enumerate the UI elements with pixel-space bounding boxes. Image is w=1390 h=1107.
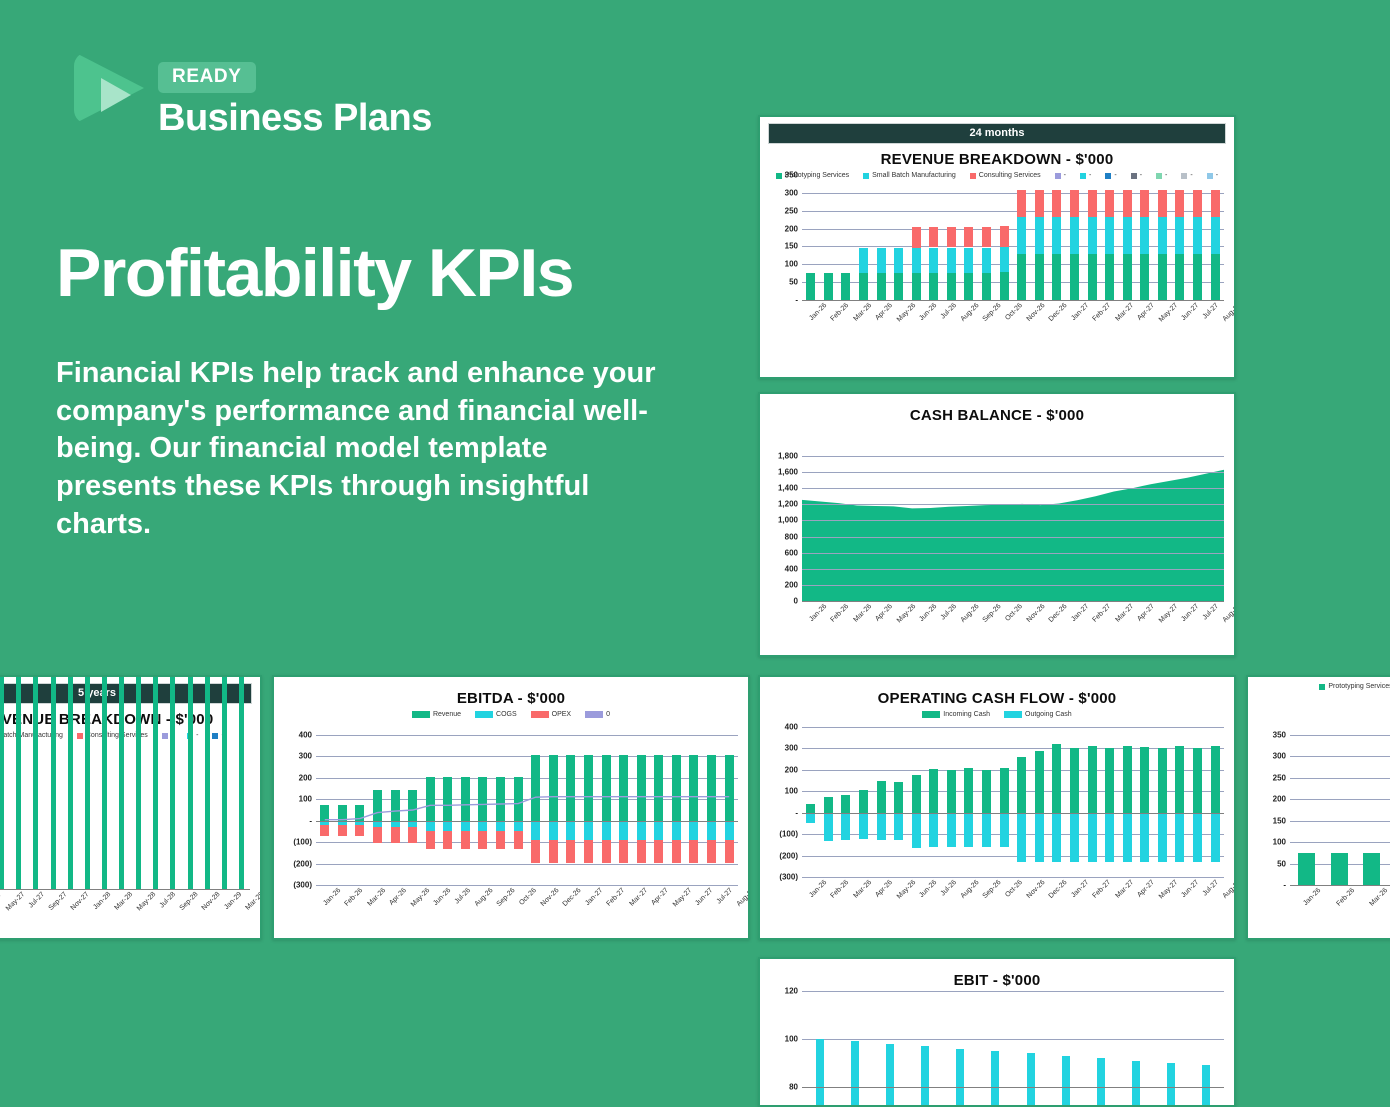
bar[interactable] [1035,175,1044,300]
x-label: May-26 [896,603,917,624]
x-label: Apr-27 [650,887,670,907]
bar[interactable] [824,727,833,877]
bar-segment [982,227,991,248]
x-label: Aug-27 [1221,879,1236,900]
bar[interactable] [1027,991,1035,1087]
bar-segment [1017,217,1026,255]
bar-segment [947,813,956,847]
x-label: Mar-26 [852,302,873,323]
x-label: Dec-26 [1048,302,1069,323]
bar[interactable] [921,991,929,1087]
y-tick: 80 [789,1083,798,1092]
chart-card-body: EBITDA - $'000RevenueCOGSOPEX04003002001… [274,677,748,938]
bar-segment [921,1046,929,1107]
bar-segment [102,675,107,889]
bar[interactable] [1035,727,1044,877]
bar[interactable] [1000,727,1009,877]
legend-label: - [196,732,198,739]
bar-segment [1105,190,1114,216]
bar-segment [894,813,903,840]
bar-segment [912,273,921,300]
bar-segment [824,797,833,813]
x-label: Sep-27 [47,891,68,912]
bar-segment [947,770,956,812]
bar-segment [1193,254,1202,300]
x-label: Jun-26 [918,603,938,623]
bar-segment [982,813,991,847]
bar[interactable] [1052,727,1061,877]
chart-plot: 12010080 [768,991,1226,1087]
y-axis: 12010080 [768,991,802,1087]
x-label: Mar-26 [852,879,873,900]
chart-title: CASH BALANCE - $'000 [768,407,1226,424]
legend-swatch [475,711,493,718]
x-label: Feb-26 [830,302,851,323]
y-tick: - [795,808,798,817]
bar-segment [1088,190,1097,216]
x-label: May-26 [896,879,917,900]
y-tick: 50 [1277,859,1286,868]
bar[interactable] [239,739,244,889]
period-label: 24 months [768,123,1226,144]
bar[interactable] [841,175,850,300]
bar[interactable] [1017,727,1026,877]
x-label: Feb-27 [1092,879,1113,900]
bar-segment [1158,190,1167,216]
x-axis-line [802,813,1224,814]
x-label: Mar-28 [114,891,135,912]
bar-segment [1158,254,1167,300]
bar[interactable] [894,727,903,877]
legend-item[interactable]: COGS [475,711,517,718]
bar-segment [1000,813,1009,847]
x-label: Mar-27 [1114,302,1135,323]
x-label: Apr-26 [874,603,894,623]
x-label: Mar-26 [1368,887,1389,908]
bar[interactable] [1105,175,1114,300]
bar[interactable] [816,991,824,1087]
bar[interactable] [1123,727,1132,877]
x-label: Jun-27 [1180,603,1200,623]
x-label: Jun-27 [694,887,714,907]
bar-segment [859,813,868,839]
x-label: May-27 [672,887,693,908]
bar-segment [964,813,973,847]
x-label: Mar-27 [1114,879,1135,900]
bar[interactable] [956,991,964,1087]
bar-segment [1017,254,1026,300]
x-label: Feb-26 [830,603,851,624]
bar-segment [1211,746,1220,812]
x-label: Jan-29 [223,891,243,911]
x-axis-labels: Mar-27May-27Jul-27Sep-27Nov-27Jan-28Mar-… [0,891,252,898]
x-label: Aug-26 [959,302,980,323]
x-label: Aug-27 [735,887,750,908]
bar-segment [1105,217,1114,255]
y-tick: 600 [785,548,798,557]
play-triangle-icon [74,52,144,124]
bar-segment [877,813,886,840]
gridline [802,537,1224,538]
y-tick: 800 [785,532,798,541]
bar-segment [929,227,938,248]
x-label-slot: Jan-26 [316,887,337,894]
legend-item[interactable]: Prototyping Services [1319,683,1390,690]
bar[interactable] [1132,991,1140,1087]
legend-label: COGS [496,711,517,718]
bar-segment [1052,190,1061,216]
bar[interactable] [205,739,210,889]
gridline [316,885,738,886]
bar[interactable] [929,175,938,300]
x-label: Aug-27 [1221,603,1236,624]
bar-group [802,727,1224,877]
bar-segment [1017,190,1026,216]
bar-segment [1017,813,1026,862]
bar[interactable] [991,991,999,1087]
bar-segment [1193,217,1202,255]
brand-name: Business Plans [158,99,432,139]
bar[interactable] [886,991,894,1087]
legend-item[interactable]: Incoming Cash [922,711,990,718]
x-label: Nov-27 [70,891,91,912]
bar-segment [912,227,921,248]
bar-segment [877,781,886,813]
x-label-slot: Feb-26 [1323,887,1356,894]
bar-segment [824,273,833,300]
bar[interactable] [102,739,107,889]
x-label: May-26 [896,302,917,323]
x-label: Feb-27 [1092,302,1113,323]
y-tick: - [309,816,312,825]
x-axis-line [802,601,1224,602]
plot-area [0,739,250,889]
bar-segment [806,804,815,813]
x-label: Aug-26 [473,887,494,908]
bar-segment [1052,217,1061,255]
bar-segment [886,1044,894,1107]
bar[interactable] [1070,727,1079,877]
area-series [802,456,1224,601]
bar[interactable] [1017,175,1026,300]
bar-segment [1052,744,1061,813]
bar[interactable] [929,727,938,877]
y-tick: (200) [779,851,798,860]
bar-segment [1331,853,1348,885]
bar[interactable] [877,175,886,300]
x-label: Jun-27 [1180,302,1200,322]
bar-segment [1211,254,1220,300]
y-axis: 35030025020015010050- [768,175,802,300]
x-label: Aug-27 [1221,302,1236,323]
bar[interactable] [1211,175,1220,300]
bar[interactable] [0,739,4,889]
legend-swatch [1319,684,1325,690]
y-tick: 400 [785,723,798,732]
legend-item[interactable]: Outgoing Cash [1004,711,1072,718]
y-tick: (200) [293,859,312,868]
chart-card-cash-balance: CASH BALANCE - $'0001,8001,6001,4001,200… [758,392,1236,657]
x-label: Mar-26 [852,603,873,624]
bar[interactable] [824,175,833,300]
bar[interactable] [877,727,886,877]
x-label: Jul-26 [453,887,471,905]
bar[interactable] [1158,727,1167,877]
bar[interactable] [806,727,815,877]
bar[interactable] [51,739,56,889]
x-label: Jul-27 [27,891,45,909]
bar[interactable] [1211,727,1220,877]
y-tick: 100 [785,1035,798,1044]
x-label: Nov-26 [539,887,560,908]
x-label: Mar-27 [1114,603,1135,624]
bar-segment [912,248,921,273]
chart-card-body: Prototyping Services35030025020015010050… [1248,677,1390,938]
x-label: Apr-27 [1136,302,1156,322]
bar[interactable] [1298,735,1315,885]
x-label: Jul-26 [939,302,957,320]
x-label: Feb-27 [606,887,627,908]
bar-segment [1035,190,1044,216]
chart-card-body: 5 yearsREVENUE BREAKDOWN - $'000Small Ba… [0,677,260,938]
bar[interactable] [964,175,973,300]
chart-legend: Prototyping Services [1256,683,1390,690]
bar[interactable] [859,727,868,877]
bar[interactable] [136,739,141,889]
bar-segment [136,675,141,889]
bar-segment [188,675,193,889]
bar[interactable] [947,175,956,300]
chart-card-ebitda: EBITDA - $'000RevenueCOGSOPEX04003002001… [272,675,750,940]
bar-segment [1052,813,1061,863]
legend-swatch [1004,711,1022,718]
chart-plot: 35030025020015010050- [768,175,1226,300]
bar[interactable] [1105,727,1114,877]
bar-segment [816,1039,824,1107]
x-label: Jan-28 [92,891,112,911]
y-tick: 100 [299,795,312,804]
bar-segment [0,675,4,889]
bar-segment [1140,217,1149,255]
bar[interactable] [119,739,124,889]
bar[interactable] [222,739,227,889]
y-tick: 250 [1273,773,1286,782]
bar[interactable] [188,739,193,889]
y-tick: 300 [1273,752,1286,761]
y-axis: 1,8001,6001,4001,2001,0008006004002000 [768,456,802,601]
x-axis-labels: Jan-26Feb-26Mar-26Apr-26May-26Jun-26Jul-… [768,603,1226,610]
bar-segment [929,813,938,847]
x-label: Jan-27 [1070,302,1090,322]
bar[interactable] [1123,175,1132,300]
bar[interactable] [1193,727,1202,877]
bar-segment [877,248,886,273]
x-label: May-27 [1158,603,1179,624]
bar-segment [1105,813,1114,862]
legend-item[interactable]: 0 [585,711,610,718]
bar[interactable] [851,991,859,1087]
hero-paragraph: Financial KPIs help track and enhance yo… [56,355,656,543]
bar[interactable] [1175,175,1184,300]
chart-title: EBITDA - $'000 [282,690,740,707]
y-tick: 250 [785,206,798,215]
y-tick: (100) [293,838,312,847]
ready-badge: READY [158,62,256,93]
bar[interactable] [912,175,921,300]
legend-swatch [212,733,218,739]
bar[interactable] [982,175,991,300]
chart-card-revenue-breakdown-24m: 24 monthsREVENUE BREAKDOWN - $'000Protot… [758,115,1236,379]
bar[interactable] [982,727,991,877]
legend-item[interactable]: Revenue [412,711,461,718]
bar-segment [1140,747,1149,812]
bar[interactable] [912,727,921,877]
bar-segment [964,273,973,301]
bar[interactable] [1193,175,1202,300]
bar-segment [1035,751,1044,813]
y-axis: 400300200100-(100)(200)(300) [282,735,316,885]
plot-area [1290,735,1390,885]
bar-segment [33,675,38,889]
bar[interactable] [85,739,90,889]
x-label: Jul-26 [939,879,957,897]
plot-area [316,735,738,885]
x-label: Jan-26 [808,302,828,322]
bar-segment [1363,853,1380,885]
y-tick: 200 [1273,795,1286,804]
bar[interactable] [1202,991,1210,1087]
gridline [802,488,1224,489]
legend-swatch [531,711,549,718]
bar-segment [1088,254,1097,300]
bar[interactable] [1140,175,1149,300]
bar-segment [1140,254,1149,300]
bar-segment [947,248,956,273]
bar-segment [841,795,850,813]
chart-plot: 400300200100-(100)(200)(300) [768,727,1226,877]
bar[interactable] [1062,991,1070,1087]
bar[interactable] [1167,991,1175,1087]
bar[interactable] [16,739,21,889]
bar-group [1290,735,1390,885]
bar[interactable] [170,739,175,889]
plot-area [802,727,1224,877]
chart-card-body: CASH BALANCE - $'0001,8001,6001,4001,200… [760,394,1234,655]
bar-segment [51,675,56,889]
x-axis-labels: Jan-26Feb-26Mar-26Apr-26May-26Jun-26Jul-… [282,887,740,894]
bar-segment [68,675,73,889]
y-tick: 1,400 [778,484,798,493]
x-label: Dec-26 [1048,603,1069,624]
bar[interactable] [894,175,903,300]
chart-plot [0,739,252,889]
x-label: Sep-26 [982,302,1003,323]
y-tick: 1,800 [778,452,798,461]
bar[interactable] [859,175,868,300]
x-label: Sep-26 [982,879,1003,900]
gridline [802,569,1224,570]
bar[interactable] [841,727,850,877]
bar[interactable] [806,175,815,300]
bar-segment [964,768,973,813]
y-tick: 400 [785,564,798,573]
legend-item[interactable]: OPEX [531,711,571,718]
bar[interactable] [947,727,956,877]
bar-segment [1140,190,1149,216]
x-label: May-26 [410,887,431,908]
bar-segment [1140,813,1149,862]
chart-card-operating-cash-flow: OPERATING CASH FLOW - $'000Incoming Cash… [758,675,1236,940]
x-label-slot: Jan-26 [802,879,823,886]
bar-segment [239,675,244,889]
chart-card-body: EBIT - $'00012010080 [760,959,1234,1105]
x-label: Jan-27 [1070,879,1090,899]
bar[interactable] [1088,175,1097,300]
bar[interactable] [1097,991,1105,1087]
bar[interactable] [1331,735,1348,885]
bar-segment [929,273,938,301]
x-label: Oct-26 [518,887,538,907]
bar[interactable] [68,739,73,889]
x-label: Feb-26 [830,879,851,900]
y-tick: 200 [785,224,798,233]
bar[interactable] [1175,727,1184,877]
plot-area [802,456,1224,601]
bar-segment [153,675,158,889]
x-label: May-27 [1158,879,1179,900]
brand-lockup: READY Business Plans [74,52,432,139]
x-label: Apr-26 [874,879,894,899]
bar-segment [1035,813,1044,862]
bar[interactable] [1158,175,1167,300]
bar-segment [1175,254,1184,300]
bar[interactable] [153,739,158,889]
bar[interactable] [1140,727,1149,877]
bar[interactable] [1000,175,1009,300]
bar-segment [1193,748,1202,812]
bar-segment [1070,813,1079,862]
bar-segment [841,273,850,300]
bar-segment [1000,247,1009,272]
bar[interactable] [1088,727,1097,877]
x-label: Nov-26 [1025,302,1046,323]
bar[interactable] [33,739,38,889]
x-label: Jul-27 [1201,879,1219,897]
bar[interactable] [1052,175,1061,300]
bar-segment [1097,1058,1105,1107]
gridline [802,456,1224,457]
bar-segment [991,1051,999,1107]
bar-segment [824,813,833,841]
x-label: Jun-27 [1180,879,1200,899]
bar-segment [1211,217,1220,255]
x-label: Jul-27 [1201,603,1219,621]
legend-swatch [585,711,603,718]
x-label: Jul-27 [715,887,733,905]
bar-segment [982,248,991,273]
bar[interactable] [964,727,973,877]
chart-legend: Incoming CashOutgoing Cash [768,711,1226,718]
bar-segment [1000,768,1009,812]
bar-segment [1070,748,1079,812]
chart-legend: RevenueCOGSOPEX0 [282,711,740,718]
legend-label: OPEX [552,711,571,718]
x-label: Jul-26 [939,603,957,621]
bar[interactable] [1363,735,1380,885]
bar[interactable] [1070,175,1079,300]
bar-segment [1035,217,1044,255]
bar-segment [1158,217,1167,255]
